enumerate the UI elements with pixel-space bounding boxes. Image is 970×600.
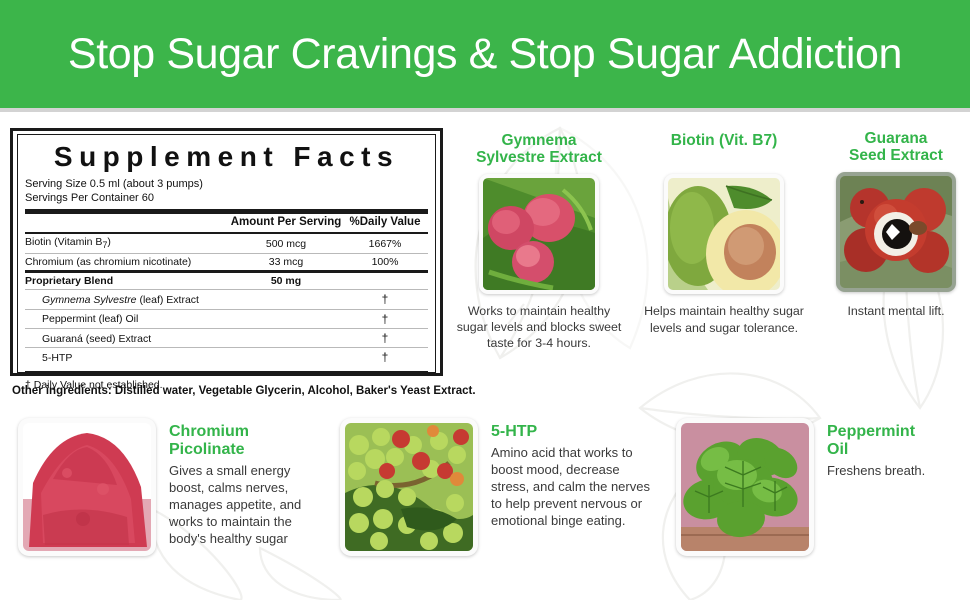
row-amount-guarana (230, 329, 342, 347)
photo-frame-guarana (836, 172, 956, 292)
card-description-chromium: Gives a small energy boost, calms nerves… (169, 463, 328, 547)
photo-frame-chromium (18, 418, 156, 556)
header-amount-per-serving: Amount Per Serving (230, 214, 342, 232)
table-row-peppermint: Peppermint (leaf) Oil † (25, 310, 428, 328)
row-amount-5htp (230, 348, 342, 366)
row-dv-gymnema: † (342, 290, 428, 308)
row-label-guarana: Guaraná (seed) Extract (25, 329, 230, 347)
row-label-5htp: 5-HTP (25, 348, 230, 366)
blend-item-1: Peppermint (leaf) Oil † (25, 310, 428, 328)
table-row-biotin: Biotin (Vitamin B7) 500 mcg 1667% (25, 234, 428, 253)
page-title: Stop Sugar Cravings & Stop Sugar Addicti… (68, 30, 902, 79)
card-description-guarana: Instant mental lift. (822, 303, 970, 319)
blend-item-0: Gymnema Sylvestre (leaf) Extract † (25, 290, 428, 308)
table-header-row: Amount Per Serving %Daily Value (25, 214, 428, 232)
coffee-berries-photo (345, 423, 473, 551)
row-dv-guarana: † (342, 329, 428, 347)
serving-size: Serving Size 0.5 ml (about 3 pumps) (25, 177, 428, 191)
row-label-chromium: Chromium (as chromium nicotinate) (25, 254, 230, 271)
avocado-photo (668, 178, 780, 290)
row-label-blend: Proprietary Blend (25, 273, 230, 290)
nutrient-rows: Biotin (Vitamin B7) 500 mcg 1667% (25, 234, 428, 253)
row-label-biotin: Biotin (Vitamin B7) (25, 234, 230, 253)
chromium-powder-photo (23, 423, 151, 551)
table-row-proprietary-blend: Proprietary Blend 50 mg (25, 273, 428, 290)
row-dv-chromium: 100% (342, 254, 428, 271)
card-description-biotin: Helps maintain healthy sugar levels and … (640, 303, 808, 336)
supplement-facts-table: Amount Per Serving %Daily Value (25, 214, 428, 232)
table-row-chromium: Chromium (as chromium nicotinate) 33 mcg… (25, 254, 428, 271)
card-description-gymnema: Works to maintain healthy sugar levels a… (452, 303, 626, 352)
header-banner: Stop Sugar Cravings & Stop Sugar Addicti… (0, 0, 970, 108)
peppermint-leaves-photo (681, 423, 809, 551)
supplement-facts-title: Supplement Facts (25, 143, 428, 172)
row-label-gymnema: Gymnema Sylvestre (leaf) Extract (25, 290, 230, 308)
ingredient-card-chromium: Chromium Picolinate Gives a small energy… (18, 418, 328, 556)
ingredient-card-peppermint: Peppermint Oil Freshens breath. (676, 418, 966, 556)
header-daily-value: %Daily Value (342, 214, 428, 232)
photo-frame-biotin (664, 174, 784, 294)
row-amount-blend: 50 mg (230, 273, 342, 290)
ingredient-card-gymnema: Gymnema Sylvestre Extract Works to maint… (452, 132, 626, 352)
card-description-peppermint: Freshens breath. (827, 463, 925, 480)
card-description-5htp: Amino acid that works to boost mood, dec… (491, 445, 660, 529)
photo-frame-gymnema (479, 174, 599, 294)
card-title-peppermint: Peppermint Oil (827, 423, 925, 459)
photo-frame-peppermint (676, 418, 814, 556)
card-title-chromium: Chromium Picolinate (169, 423, 328, 459)
header-blank (25, 214, 230, 232)
other-ingredients: Other ingredients: Distilled water, Vege… (12, 385, 472, 397)
blend-item-3: 5-HTP † (25, 348, 428, 366)
card-title-guarana: Guarana Seed Extract (822, 130, 970, 165)
photo-frame-5htp (340, 418, 478, 556)
banner-divider (0, 108, 970, 112)
row-amount-chromium: 33 mcg (230, 254, 342, 271)
row-dv-5htp: † (342, 348, 428, 366)
row-amount-biotin: 500 mcg (230, 234, 342, 253)
table-row-5htp: 5-HTP † (25, 348, 428, 366)
ingredient-card-biotin: Biotin (Vit. B7) Helps maintain healthy … (640, 132, 808, 336)
card-title-gymnema: Gymnema Sylvestre Extract (452, 132, 626, 167)
row-dv-peppermint: † (342, 310, 428, 328)
ingredient-card-guarana: Guarana Seed Extract Instant mental (822, 130, 970, 319)
card-title-5htp: 5-HTP (491, 423, 660, 441)
table-row-guarana: Guaraná (seed) Extract † (25, 329, 428, 347)
row-dv-biotin: 1667% (342, 234, 428, 253)
row-dv-blend (342, 273, 428, 290)
guarana-fruit-photo (840, 176, 952, 288)
ingredient-card-5htp: 5-HTP Amino acid that works to boost moo… (340, 418, 660, 556)
gymnema-berries-photo (483, 178, 595, 290)
row-amount-gymnema (230, 290, 342, 308)
table-row-gymnema: Gymnema Sylvestre (leaf) Extract † (25, 290, 428, 308)
row-label-peppermint: Peppermint (leaf) Oil (25, 310, 230, 328)
blend-item-2: Guaraná (seed) Extract † (25, 329, 428, 347)
nutrient-rows-2: Chromium (as chromium nicotinate) 33 mcg… (25, 254, 428, 271)
blend-header: Proprietary Blend 50 mg (25, 273, 428, 290)
row-amount-peppermint (230, 310, 342, 328)
supplement-facts-panel: Supplement Facts Serving Size 0.5 ml (ab… (10, 128, 443, 376)
card-title-biotin: Biotin (Vit. B7) (640, 132, 808, 149)
servings-per-container: Servings Per Container 60 (25, 191, 428, 205)
